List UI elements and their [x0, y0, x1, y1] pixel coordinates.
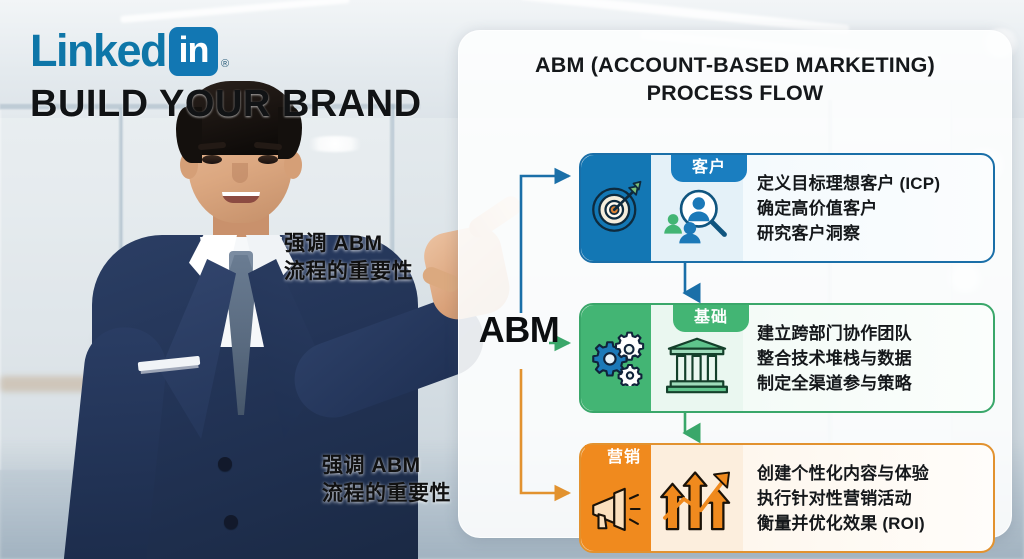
callout-top: 强调 ABM 流程的重要性 — [284, 230, 413, 286]
mouth — [222, 192, 260, 203]
screenshot-stage: Linked in ® BUILD YOUR BRAND 强调 ABM 流程的重… — [0, 0, 1024, 559]
callout-bottom: 强调 ABM 流程的重要性 — [322, 452, 451, 508]
process-flow-panel: ABM (ACCOUNT-BASED MARKETING) PROCESS FL… — [458, 30, 1012, 538]
linkedin-wordmark: Linked — [30, 28, 166, 74]
callout-top-line2: 流程的重要性 — [284, 258, 413, 286]
linkedin-in-label: in — [179, 32, 209, 68]
jacket-button — [224, 515, 238, 529]
wire-hub-to-step3 — [521, 369, 569, 493]
wire-hub-to-step1 — [521, 176, 569, 313]
eye-left — [202, 155, 222, 164]
eye-right — [258, 155, 278, 164]
linkedin-logo[interactable]: Linked in ® — [30, 26, 422, 76]
linkedin-brand-block: Linked in ® BUILD YOUR BRAND — [30, 26, 422, 126]
nose — [232, 163, 248, 183]
brand-tagline: BUILD YOUR BRAND — [30, 82, 422, 126]
jacket-button — [218, 457, 232, 471]
callout-top-line1: 强调 ABM — [284, 230, 413, 258]
hub-label: ABM — [471, 309, 567, 351]
callout-bottom-line1: 强调 ABM — [322, 452, 451, 480]
linkedin-in-badge: in — [169, 27, 218, 76]
callout-bottom-line2: 流程的重要性 — [322, 480, 451, 508]
connector-wires — [459, 31, 1011, 537]
registered-mark-icon: ® — [221, 58, 229, 70]
